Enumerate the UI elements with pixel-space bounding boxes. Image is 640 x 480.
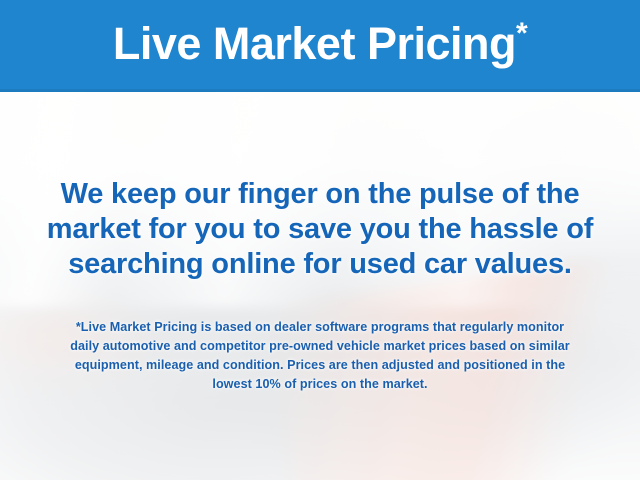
header-banner: Live Market Pricing* — [0, 0, 640, 92]
footnote-line-1: *Live Market Pricing is based on dealer … — [0, 318, 640, 337]
footnote-line-3: equipment, mileage and condition. Prices… — [0, 356, 640, 375]
headline-line-3: searching online for used car values. — [0, 247, 640, 282]
headline-line-2: market for you to save you the hassle of — [0, 212, 640, 247]
footnote-line-2: daily automotive and competitor pre-owne… — [0, 337, 640, 356]
footnote-line-4: lowest 10% of prices on the market. — [0, 375, 640, 394]
headline-line-1: We keep our finger on the pulse of the — [0, 177, 640, 212]
banner-title-text: Live Market Pricing — [113, 18, 516, 69]
banner-title: Live Market Pricing* — [113, 19, 527, 66]
live-market-pricing-slide: Live Market Pricing* We keep our finger … — [0, 0, 640, 480]
footnote-block: *Live Market Pricing is based on dealer … — [0, 318, 640, 394]
banner-title-asterisk: * — [516, 17, 527, 50]
headline-block: We keep our finger on the pulse of the m… — [0, 177, 640, 282]
